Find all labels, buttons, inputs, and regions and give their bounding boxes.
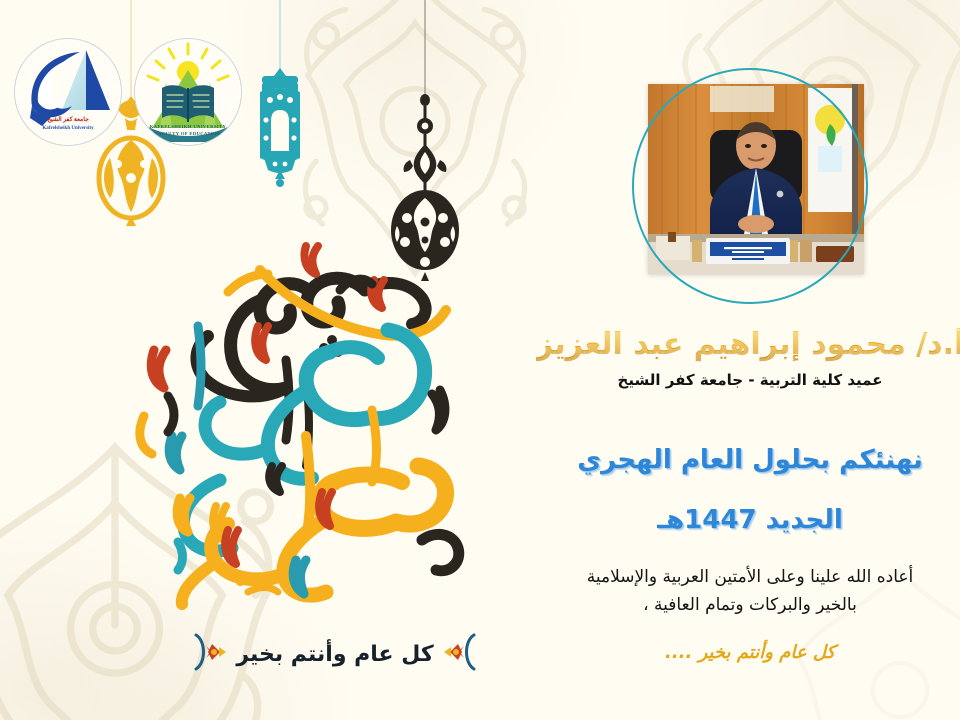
signoff-text: كل عام وأنتم بخير .... bbox=[665, 642, 835, 663]
damask-watermark-top-left bbox=[250, 0, 580, 260]
greeting-line-2: الجديد 1447هـ bbox=[657, 505, 843, 535]
person-title: عميد كلية التربية - جامعة كفر الشيخ bbox=[618, 371, 883, 389]
wish-block: أعاده الله علينا وعلى الأمتين العربية وا… bbox=[587, 563, 914, 621]
logos-group: KAFRELSHEIKH UNIVERSITY FACULTY OF EDUCA… bbox=[14, 38, 242, 146]
dean-portrait bbox=[632, 68, 868, 304]
star-bracket-left-icon bbox=[184, 629, 230, 679]
right-content-column: أ.د/ محمود إبراهيم عبد العزيز عميد كلية … bbox=[540, 0, 960, 720]
person-name: أ.د/ محمود إبراهيم عبد العزيز bbox=[536, 328, 960, 363]
greeting-card: KAFRELSHEIKH UNIVERSITY FACULTY OF EDUCA… bbox=[0, 0, 960, 720]
ribbon-greeting-text: كل عام وأنتم بخير bbox=[236, 642, 433, 667]
portrait-ring bbox=[632, 68, 868, 304]
calligraphy-artwork bbox=[110, 230, 540, 610]
seal-caption: KAFRELSHEIKH UNIVERSITY FACULTY OF EDUCA… bbox=[135, 124, 241, 138]
kafrelsheikh-university-logo: جامعة كفر الشيخ Kafrelsheikh University bbox=[14, 38, 122, 146]
kfs-logo-caption: جامعة كفر الشيخ Kafrelsheikh University bbox=[15, 116, 121, 133]
wish-line-1: أعاده الله علينا وعلى الأمتين العربية وا… bbox=[587, 563, 914, 592]
teal-lantern-ornament bbox=[240, 0, 320, 254]
bottom-greeting-ribbon: كل عام وأنتم بخير bbox=[170, 628, 500, 680]
star-bracket-right-icon bbox=[440, 629, 486, 679]
greeting-line-1: نهنئكم بحلول العام الهجري bbox=[577, 445, 923, 475]
wish-line-2: بالخير والبركات وتمام العافية ، bbox=[587, 591, 914, 620]
faculty-of-education-seal-logo: KAFRELSHEIKH UNIVERSITY FACULTY OF EDUCA… bbox=[134, 38, 242, 146]
